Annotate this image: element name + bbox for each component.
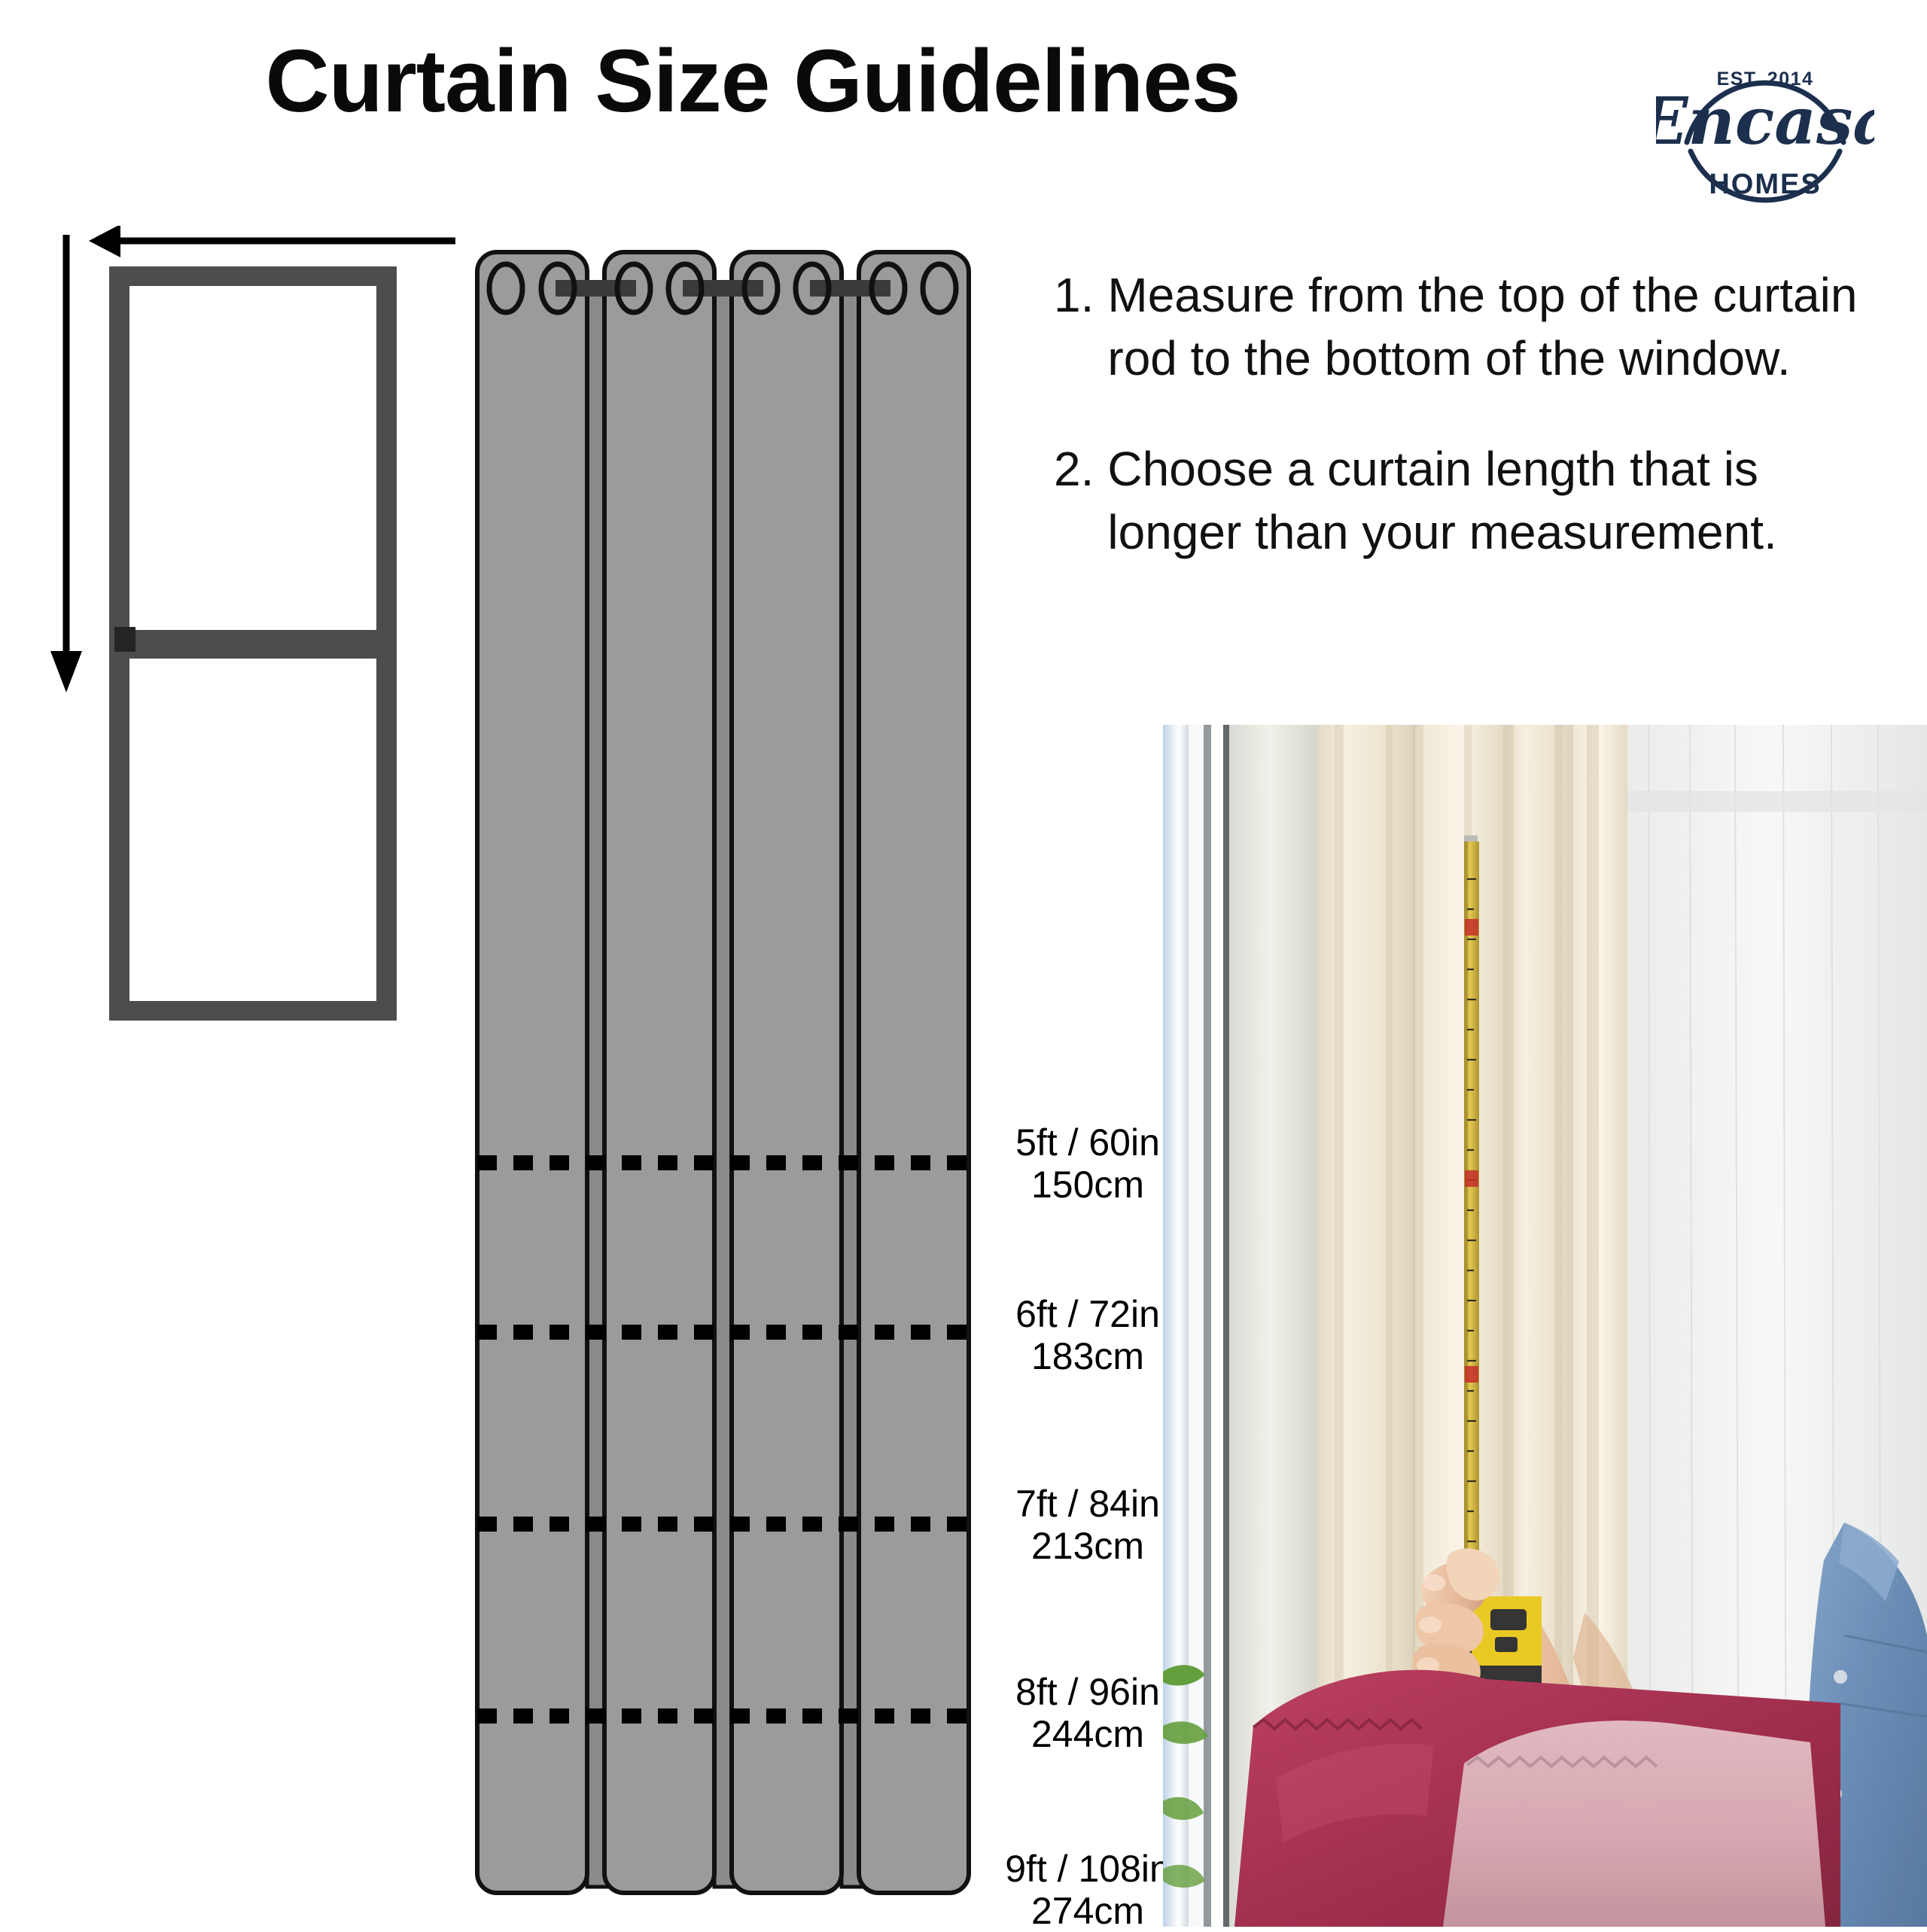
- list-item: 1. Measure from the top of the curtain r…: [1054, 263, 1904, 391]
- instruction-number: 1.: [1054, 263, 1094, 327]
- instructions-list: 1. Measure from the top of the curtain r…: [1054, 263, 1904, 611]
- logo-script-text: Encasa: [1656, 84, 1874, 160]
- vertical-measure-arrow: [50, 235, 82, 692]
- list-item: 2. Choose a curtain length that is longe…: [1054, 437, 1904, 564]
- instruction-text: Measure from the top of the curtain rod …: [1107, 263, 1904, 391]
- instruction-text: Choose a curtain length that is longer t…: [1107, 437, 1904, 564]
- woman-measuring-curtain-photo: [1163, 725, 1927, 1927]
- logo-sub-text: HOMES: [1709, 169, 1821, 200]
- encasa-homes-logo: EST. 2014 Encasa HOMES: [1656, 19, 1874, 237]
- page-title: Curtain Size Guidelines: [0, 30, 1505, 132]
- grommet-curtain-diagram: [467, 237, 979, 1919]
- instruction-number: 2.: [1054, 437, 1094, 500]
- window-frame-diagram: [45, 226, 467, 1182]
- horizontal-measure-arrow: [89, 226, 455, 257]
